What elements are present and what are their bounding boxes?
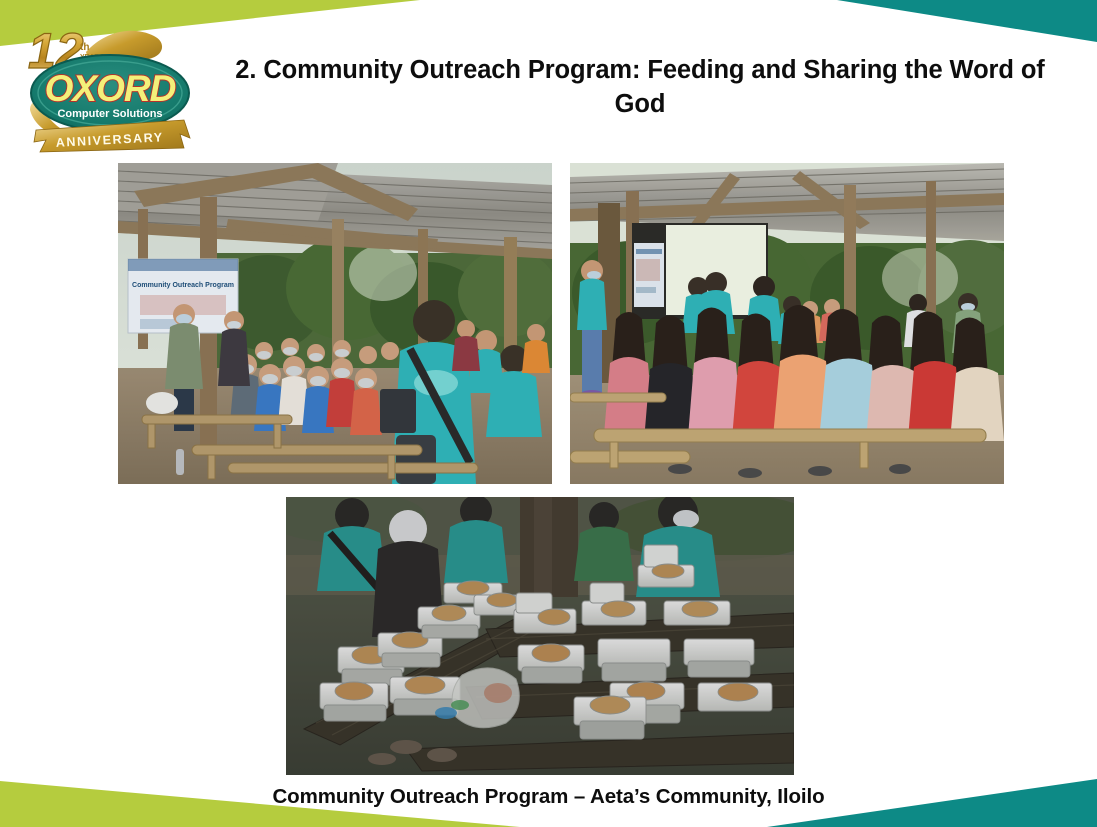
photo-2-artwork <box>570 163 1004 484</box>
slide-caption: Community Outreach Program – Aeta’s Comm… <box>0 785 1097 809</box>
logo-brand-name: OXORD <box>45 68 176 109</box>
photo-1-artwork: Community Outreach Program <box>118 163 552 484</box>
logo-number-superscript: th <box>80 42 89 53</box>
slide-title: 2. Community Outreach Program: Feeding a… <box>215 54 1065 121</box>
oxord-anniversary-logo: 12 th YEARS OXORD Computer Solutions ANN… <box>14 18 204 158</box>
photo-projector-session <box>570 163 1004 484</box>
photo-meal-boxes <box>286 497 794 775</box>
photo-outreach-assembly: Community Outreach Program <box>118 163 552 484</box>
slide-canvas: 12 th YEARS OXORD Computer Solutions ANN… <box>0 0 1097 827</box>
logo-tagline: Computer Solutions <box>57 108 162 120</box>
decor-band-top-right <box>837 0 1097 42</box>
photo-3-artwork <box>286 497 794 775</box>
